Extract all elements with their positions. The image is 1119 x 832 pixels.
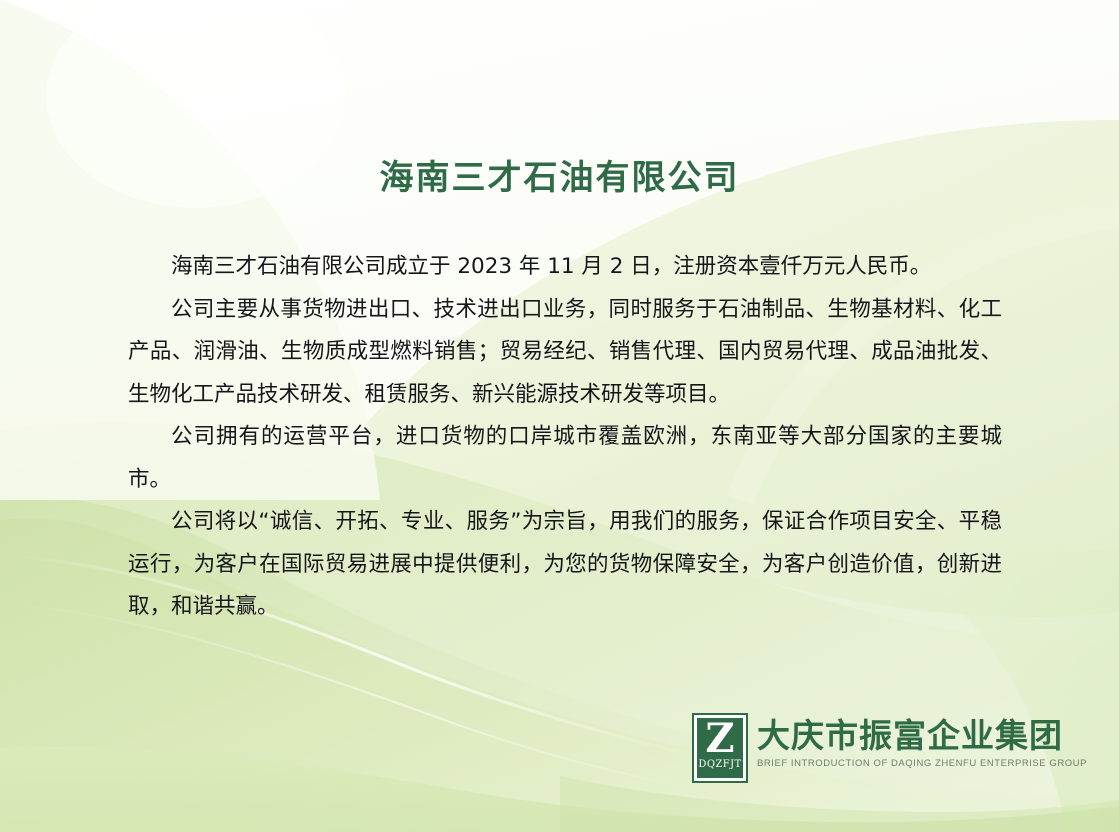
zhenfu-logo-icon: Z DQZFJT — [692, 713, 748, 783]
paragraph-3: 公司拥有的运营平台，进口货物的口岸城市覆盖欧洲，东南亚等大部分国家的主要城市。 — [128, 416, 1002, 501]
page-title-container: 海南三才石油有限公司 — [0, 158, 1119, 199]
logo-company-name-en: BRIEF INTRODUCTION OF DAQING ZHENFU ENTE… — [757, 758, 1087, 769]
logo-abbreviation: DQZFJT — [698, 759, 741, 770]
logo-text-block: 大庆市振富企业集团 BRIEF INTRODUCTION OF DAQING Z… — [757, 713, 1087, 769]
slide-canvas: 海南三才石油有限公司 海南三才石油有限公司成立于 2023 年 11 月 2 日… — [0, 0, 1119, 832]
company-logo-lockup: Z DQZFJT 大庆市振富企业集团 BRIEF INTRODUCTION OF… — [692, 713, 1087, 787]
logo-letter-z: Z — [705, 720, 734, 758]
paragraph-2: 公司主要从事货物进出口、技术进出口业务，同时服务于石油制品、生物基材料、化工产品… — [128, 289, 1002, 417]
logo-company-name-cn: 大庆市振富企业集团 — [757, 719, 1087, 754]
paragraph-4: 公司将以“诚信、开拓、专业、服务”为宗旨，用我们的服务，保证合作项目安全、平稳运… — [128, 501, 1002, 629]
paragraph-1: 海南三才石油有限公司成立于 2023 年 11 月 2 日，注册资本壹仟万元人民… — [128, 246, 1002, 289]
page-title: 海南三才石油有限公司 — [0, 158, 1119, 199]
body-copy: 海南三才石油有限公司成立于 2023 年 11 月 2 日，注册资本壹仟万元人民… — [128, 246, 1002, 629]
logo-mark-inner: Z DQZFJT — [697, 718, 743, 778]
